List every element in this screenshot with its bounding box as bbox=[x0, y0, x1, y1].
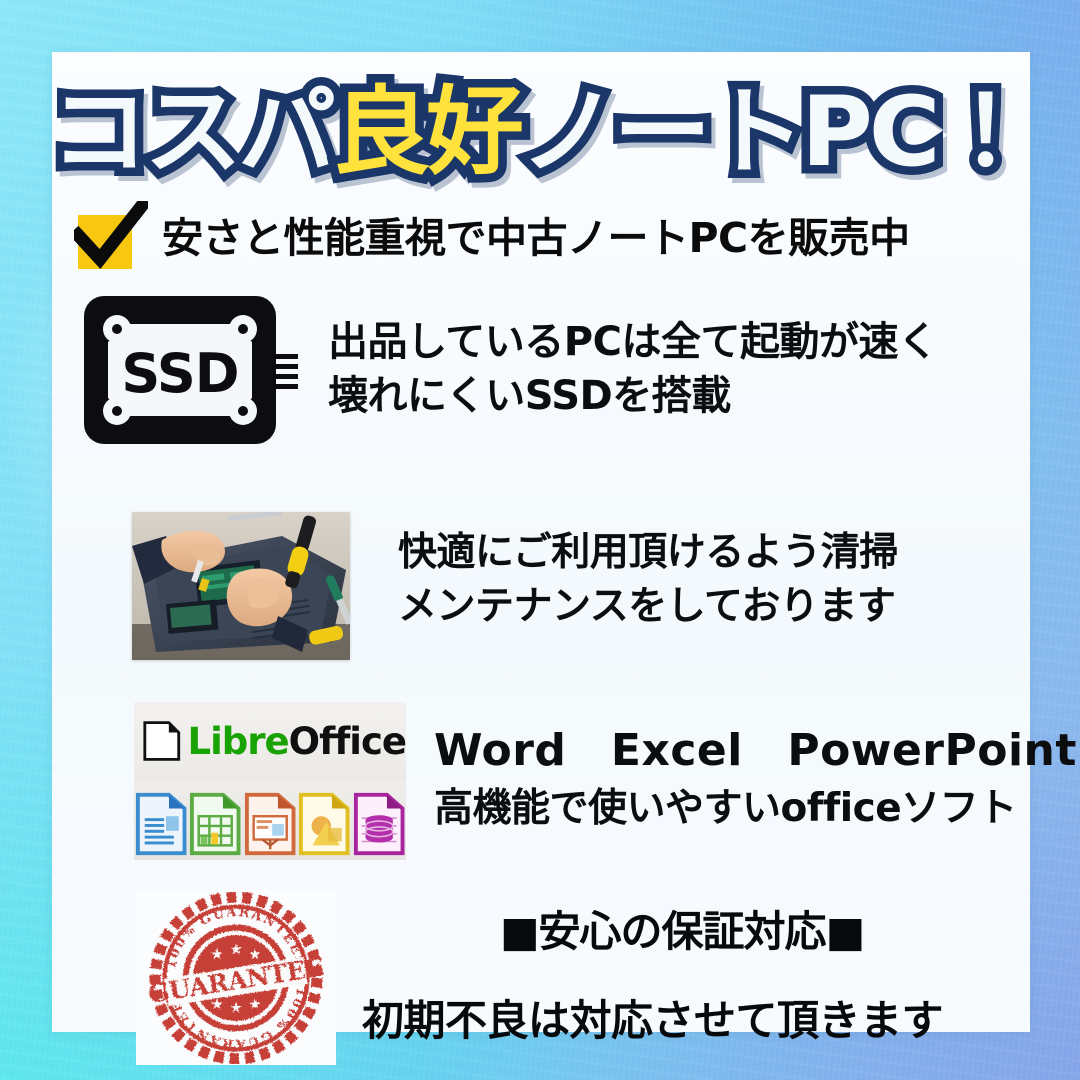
libreoffice-logo: LibreOffice bbox=[134, 702, 406, 860]
office-sub-line: 高機能で使いやすいofficeソフト bbox=[434, 786, 1077, 833]
feature-ssd-line-2: 壊れにくいSSDを搭載 bbox=[328, 370, 937, 424]
ssd-icon-label: SSD bbox=[121, 342, 238, 405]
feature-ssd-line-1: 出品しているPCは全て起動が速く bbox=[328, 316, 937, 370]
libreoffice-module-icons bbox=[134, 780, 406, 860]
feature-maintenance-text: 快適にご利用頂けるよう清掃 メンテナンスをしております bbox=[398, 526, 898, 634]
svg-text:★: ★ bbox=[211, 946, 224, 963]
ssd-drive-icon: SSD bbox=[76, 290, 306, 455]
impress-icon bbox=[243, 788, 297, 860]
guarantee-subline: 初期不良は対応させて頂きます bbox=[362, 987, 1002, 1048]
calc-icon bbox=[188, 788, 242, 860]
guarantee-stamp-icon: ★ 100% GUARANTEED ★ ★ 100% GUARANTEED ★ … bbox=[136, 890, 336, 1065]
svg-text:★: ★ bbox=[229, 940, 242, 957]
check-mark-glyph bbox=[74, 201, 148, 269]
title-part-kosupa: コスパ bbox=[50, 76, 332, 188]
title-part-ryoko: 良好 bbox=[332, 76, 520, 188]
laptop-maintenance-photo bbox=[132, 512, 350, 660]
svg-text:★: ★ bbox=[229, 999, 242, 1016]
feature-guarantee-text: ■安心の保証対応■ 初期不良は対応させて頂きます bbox=[362, 898, 1002, 1048]
feature-ssd-text: 出品しているPCは全て起動が速く 壊れにくいSSDを搭載 bbox=[328, 316, 937, 423]
libreoffice-wordmark: LibreOffice bbox=[188, 720, 406, 763]
feature-maintenance-line-2: メンテナンスをしております bbox=[398, 580, 898, 634]
feature-row-guarantee: ★ 100% GUARANTEED ★ ★ 100% GUARANTEED ★ … bbox=[136, 890, 1066, 1065]
office-apps-line: Word Excel PowerPoint bbox=[434, 714, 1077, 778]
feature-row-maintenance: 快適にご利用頂けるよう清掃 メンテナンスをしております bbox=[132, 512, 1052, 660]
feature-office-text: Word Excel PowerPoint 高機能で使いやすいofficeソフト bbox=[434, 714, 1077, 833]
feature-maintenance-line-1: 快適にご利用頂けるよう清掃 bbox=[398, 526, 898, 580]
base-icon bbox=[352, 788, 406, 860]
draw-icon bbox=[297, 788, 351, 860]
tagline-row: 安さと性能重視で中古ノートPCを販売中 bbox=[74, 202, 1014, 274]
feature-row-office: LibreOffice bbox=[134, 702, 1064, 860]
page-title: コスパ良好ノートPC！ bbox=[80, 74, 1000, 190]
libreoffice-wordmark-office: Office bbox=[289, 720, 406, 763]
tagline-text: 安さと性能重視で中古ノートPCを販売中 bbox=[162, 217, 910, 260]
libreoffice-document-icon bbox=[142, 711, 182, 771]
check-mark-icon bbox=[74, 207, 148, 269]
libreoffice-wordmark-libre: Libre bbox=[188, 720, 289, 763]
content-card: コスパ良好ノートPC！ 安さと性能重視で中古ノートPCを販売中 bbox=[52, 52, 1030, 1032]
poster-canvas: コスパ良好ノートPC！ 安さと性能重視で中古ノートPCを販売中 bbox=[0, 0, 1080, 1080]
title-part-notepc: ノートPC！ bbox=[519, 76, 1030, 188]
svg-text:★: ★ bbox=[248, 946, 261, 963]
writer-icon bbox=[134, 788, 188, 860]
svg-text:★: ★ bbox=[248, 995, 261, 1012]
feature-row-ssd: SSD 出品しているPCは全て起動が速く 壊れにくいSSDを搭載 bbox=[76, 290, 1036, 455]
guarantee-headline: ■安心の保証対応■ bbox=[362, 898, 1002, 959]
